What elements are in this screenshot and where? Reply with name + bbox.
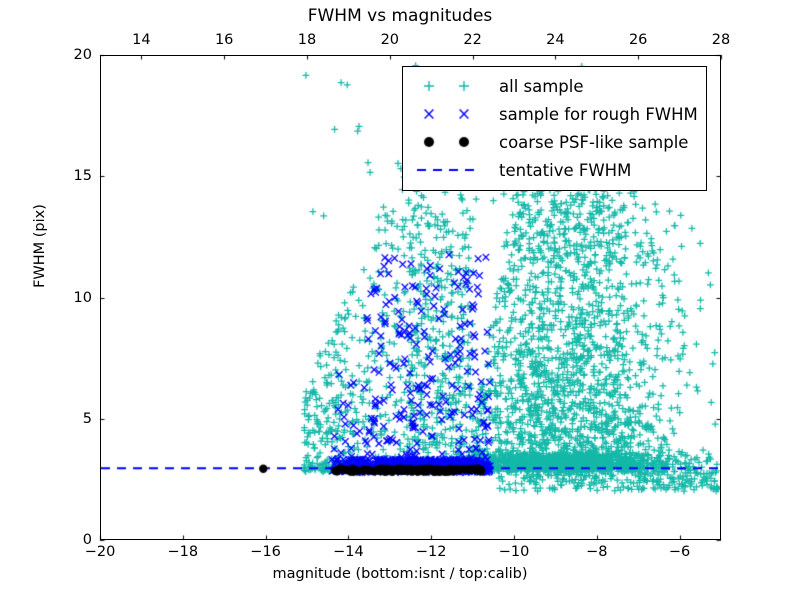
x-tick-label-bottom: −18 [167,544,198,560]
x-tick-label-top: 16 [215,32,233,48]
x-tick-label-top: 24 [546,32,564,48]
y-axis-label: FWHM (pix) [32,146,48,346]
x-tick-label-top: 22 [463,32,481,48]
x-tick-label-bottom: −12 [416,544,447,560]
chart-title: FWHM vs magnitudes [0,6,800,26]
plus-marker-icon [409,75,495,97]
x-tick-label-bottom: −6 [669,544,690,560]
x-tick-label-top: 18 [298,32,316,48]
legend-item[interactable]: all sample [403,72,706,100]
legend-label: sample for rough FWHM [495,105,698,124]
x-axis-label: magnitude (bottom:isnt / top:calib) [0,566,800,582]
legend: all samplesample for rough FWHMcoarse PS… [402,66,707,191]
y-tick-label: 0 [83,532,92,548]
y-tick-label: 10 [74,290,92,306]
x-tick-label-bottom: −16 [250,544,281,560]
x-tick-label-top: 26 [629,32,647,48]
y-tick-label: 20 [74,47,92,63]
x-tick-label-top: 28 [712,32,730,48]
legend-label: all sample [495,77,584,96]
dashed-line-icon [409,159,495,181]
x-tick-label-top: 20 [381,32,399,48]
legend-item[interactable]: coarse PSF-like sample [403,128,706,156]
x-tick-label-bottom: −8 [586,544,607,560]
legend-label: coarse PSF-like sample [495,133,688,152]
y-tick-label: 15 [74,168,92,184]
x-tick-label-bottom: −14 [333,544,364,560]
y-tick-label: 5 [83,411,92,427]
cross-marker-icon [409,103,495,125]
legend-item[interactable]: sample for rough FWHM [403,100,706,128]
figure: FWHM vs magnitudes FWHM (pix) magnitude … [0,0,800,600]
legend-label: tentative FWHM [495,161,631,180]
x-tick-label-bottom: −10 [499,544,530,560]
dot-marker-icon [409,131,495,153]
x-tick-label-top: 14 [132,32,150,48]
legend-item[interactable]: tentative FWHM [403,156,706,184]
